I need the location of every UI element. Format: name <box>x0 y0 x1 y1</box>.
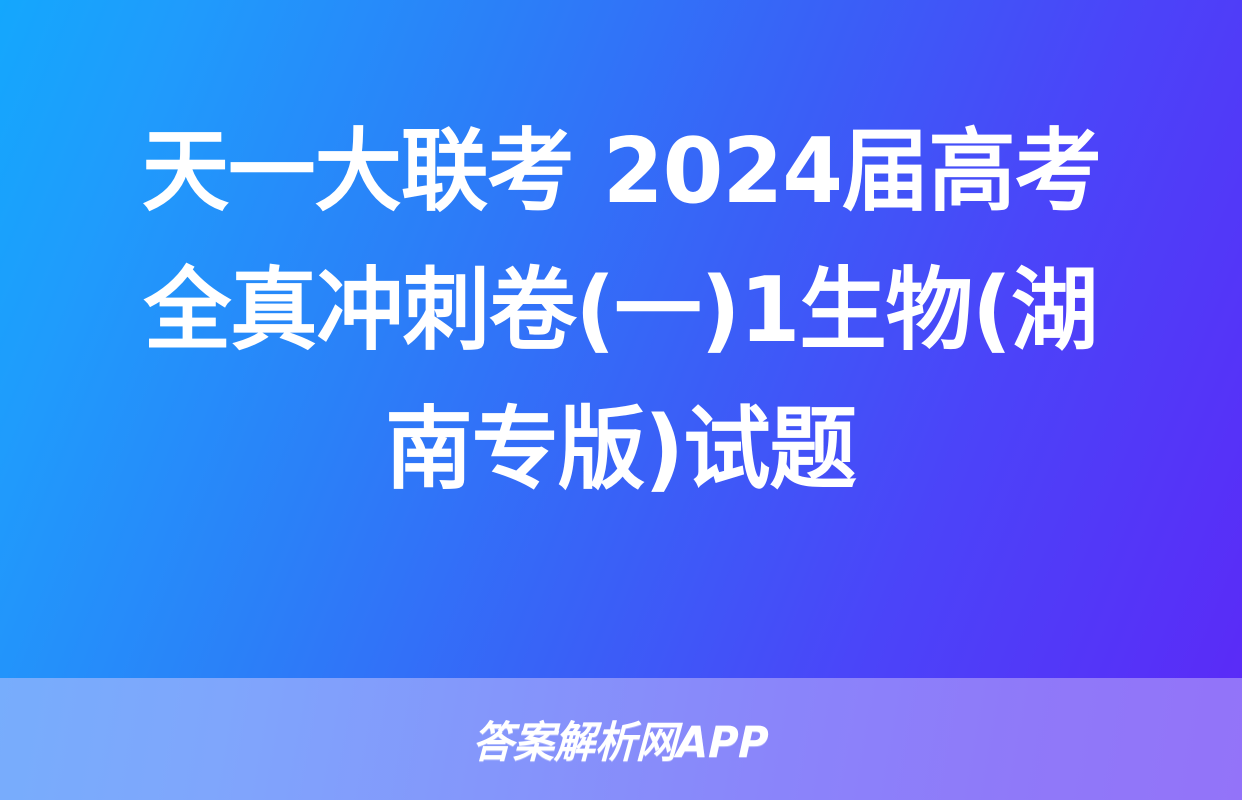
title-line-3: 南专版)试题 <box>386 380 857 519</box>
footer-watermark-band: 答案解析网APP <box>0 678 1242 800</box>
exam-cover-card: 天一大联考 2024届高考 全真冲刺卷(一)1生物(湖 南专版)试题 答案解析网… <box>0 0 1242 800</box>
title-line-2: 全真冲刺卷(一)1生物(湖 <box>144 241 1098 380</box>
title-line-1: 天一大联考 2024届高考 <box>141 102 1100 241</box>
app-watermark-label: 答案解析网APP <box>472 708 770 770</box>
title-block: 天一大联考 2024届高考 全真冲刺卷(一)1生物(湖 南专版)试题 <box>0 0 1242 678</box>
